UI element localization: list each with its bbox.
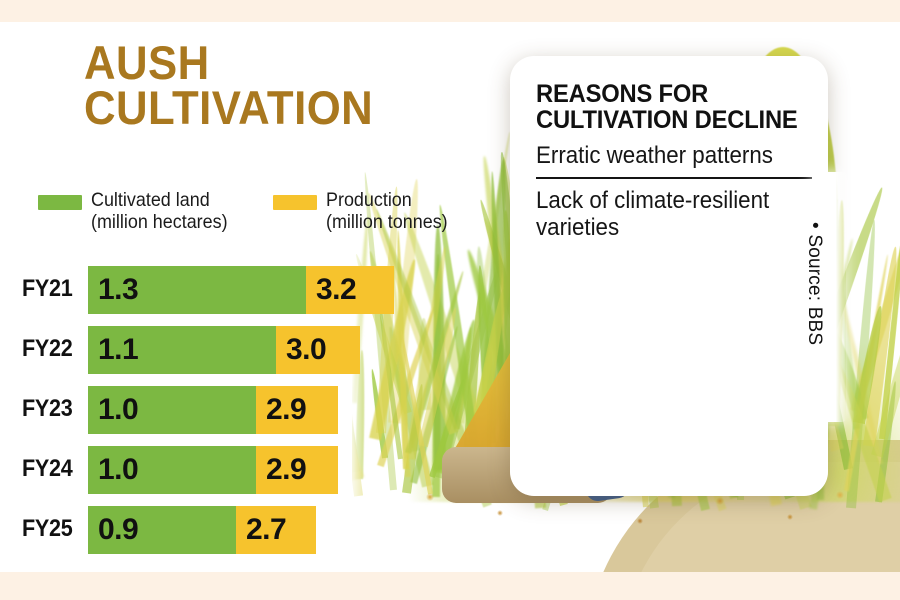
legend-swatch-green [38, 195, 82, 210]
bar-row: FY231.02.9 [0, 386, 352, 434]
bar-segment-cultivated-land: 1.1 [88, 326, 276, 374]
legend-item-production: Production (million tonnes) [273, 190, 458, 234]
bar-value-cultivated-land: 1.0 [88, 455, 138, 485]
source-label: • Source: BBS [803, 222, 825, 345]
bar-value-cultivated-land: 1.3 [88, 275, 138, 305]
legend-label-cultivated-land: Cultivated land (million hectares) [91, 190, 228, 234]
bar-segment-cultivated-land: 1.0 [88, 446, 256, 494]
bar-segment-production: 2.9 [256, 446, 338, 494]
bar-category-label: FY22 [22, 335, 78, 363]
bar-value-production: 3.0 [276, 335, 326, 365]
bar-segment-production: 2.9 [256, 386, 338, 434]
bar-value-cultivated-land: 1.0 [88, 395, 138, 425]
title-line-1: AUSH [84, 40, 391, 85]
page-title: AUSH CULTIVATION [84, 40, 391, 130]
card-bottom-fade [510, 271, 828, 496]
stacked-bar: 1.02.9 [88, 446, 338, 494]
stacked-bar: 1.33.2 [88, 266, 394, 314]
reason-item-1: Erratic weather patterns [536, 143, 793, 170]
bar-value-cultivated-land: 0.9 [88, 515, 138, 545]
bar-segment-cultivated-land: 1.3 [88, 266, 306, 314]
bar-row: FY211.33.2 [0, 266, 352, 314]
bar-row: FY241.02.9 [0, 446, 352, 494]
bar-segment-production: 2.7 [236, 506, 316, 554]
reasons-card: REASONS FOR CULTIVATION DECLINE Erratic … [510, 56, 828, 496]
infographic-canvas: AUSH CULTIVATION Cultivated land (millio… [0, 22, 900, 572]
legend-label-line2: (million tonnes) [326, 212, 448, 234]
stacked-bar: 1.02.9 [88, 386, 338, 434]
bar-segment-cultivated-land: 0.9 [88, 506, 236, 554]
bar-segment-cultivated-land: 1.0 [88, 386, 256, 434]
legend-item-cultivated-land: Cultivated land (million hectares) [38, 190, 239, 234]
bar-category-label: FY24 [22, 455, 78, 483]
bar-category-label: FY23 [22, 395, 78, 423]
legend-label-line2: (million hectares) [91, 212, 228, 234]
bar-category-label: FY25 [22, 515, 78, 543]
reasons-card-heading: REASONS FOR CULTIVATION DECLINE [536, 82, 798, 134]
reason-item-2: Lack of climate-resilient varieties [536, 188, 793, 242]
card-heading-line1: REASONS FOR [536, 82, 798, 108]
bar-row: FY250.92.7 [0, 506, 352, 554]
bar-chart: FY211.33.2FY221.13.0FY231.02.9FY241.02.9… [0, 266, 352, 566]
infographic-root: AUSH CULTIVATION Cultivated land (millio… [0, 0, 900, 600]
bar-value-production: 2.9 [256, 395, 306, 425]
bottom-cream-strip [0, 572, 900, 600]
legend-label-line1: Production [326, 190, 448, 212]
stacked-bar: 0.92.7 [88, 506, 316, 554]
stacked-bar: 1.13.0 [88, 326, 360, 374]
reasons-divider [536, 177, 812, 179]
bar-category-label: FY21 [22, 275, 78, 303]
reasons-card-content: REASONS FOR CULTIVATION DECLINE Erratic … [536, 82, 812, 242]
bar-segment-production: 3.0 [276, 326, 360, 374]
legend-swatch-yellow [273, 195, 317, 210]
legend-label-production: Production (million tonnes) [326, 190, 448, 234]
chart-legend: Cultivated land (million hectares) Produ… [38, 190, 468, 234]
bar-value-production: 2.9 [256, 455, 306, 485]
bar-value-production: 2.7 [236, 515, 286, 545]
bar-value-production: 3.2 [306, 275, 356, 305]
legend-label-line1: Cultivated land [91, 190, 228, 212]
card-heading-line2: CULTIVATION DECLINE [536, 108, 798, 134]
top-cream-strip [0, 0, 900, 22]
bar-value-cultivated-land: 1.1 [88, 335, 138, 365]
bar-segment-production: 3.2 [306, 266, 394, 314]
title-line-2: CULTIVATION [84, 85, 391, 130]
bar-row: FY221.13.0 [0, 326, 352, 374]
